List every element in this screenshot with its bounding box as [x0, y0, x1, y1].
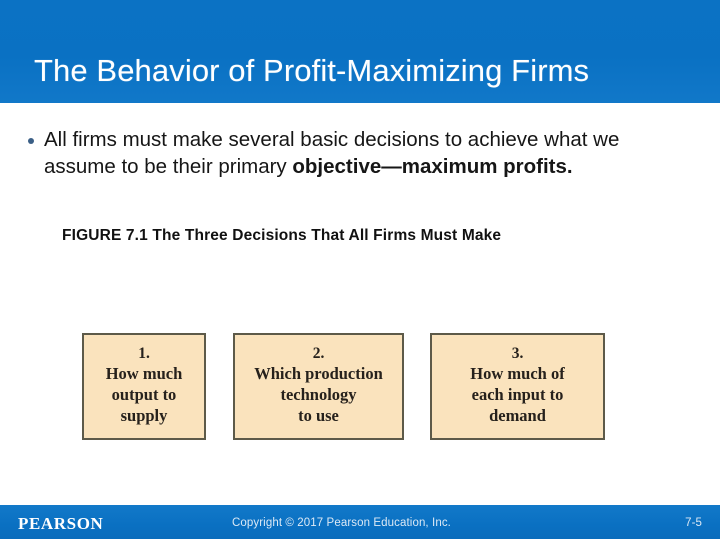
decision-box-3-line-3: demand	[489, 405, 546, 426]
decision-box-3: 3. How much of each input to demand	[430, 333, 605, 440]
figure-decision-boxes: 1. How much output to supply 2. Which pr…	[0, 333, 720, 448]
slide-header-bar: The Behavior of Profit-Maximizing Firms	[0, 0, 720, 103]
slide-body: All firms must make several basic decisi…	[0, 103, 720, 505]
bullet-item: All firms must make several basic decisi…	[28, 127, 694, 180]
decision-box-1: 1. How much output to supply	[82, 333, 206, 440]
decision-box-1-line-1: How much	[106, 363, 183, 384]
decision-box-2-line-1: Which production	[254, 363, 383, 384]
decision-box-3-number: 3.	[512, 344, 524, 363]
page-title: The Behavior of Profit-Maximizing Firms	[34, 52, 589, 90]
decision-box-1-line-2: output to	[112, 384, 177, 405]
bullet-dot-icon	[28, 138, 34, 144]
decision-box-2-line-3: to use	[298, 405, 339, 426]
pearson-logo: PEARSON	[18, 514, 103, 534]
decision-box-1-number: 1.	[138, 344, 150, 363]
decision-box-2: 2. Which production technology to use	[233, 333, 404, 440]
decision-box-3-line-2: each input to	[472, 384, 564, 405]
slide-number: 7-5	[685, 517, 702, 529]
slide-footer-bar: PEARSON Copyright © 2017 Pearson Educati…	[0, 505, 720, 539]
decision-box-3-line-1: How much of	[470, 363, 564, 384]
decision-box-2-number: 2.	[313, 344, 325, 363]
figure-caption: FIGURE 7.1 The Three Decisions That All …	[62, 227, 501, 245]
decision-box-2-line-2: technology	[280, 384, 356, 405]
bullet-item-text: All firms must make several basic decisi…	[44, 127, 694, 180]
decision-box-1-line-3: supply	[121, 405, 168, 426]
bullet-text-bold: objective—maximum profits.	[292, 155, 572, 178]
slide: The Behavior of Profit-Maximizing Firms …	[0, 0, 720, 539]
copyright-text: Copyright © 2017 Pearson Education, Inc.	[232, 517, 451, 529]
